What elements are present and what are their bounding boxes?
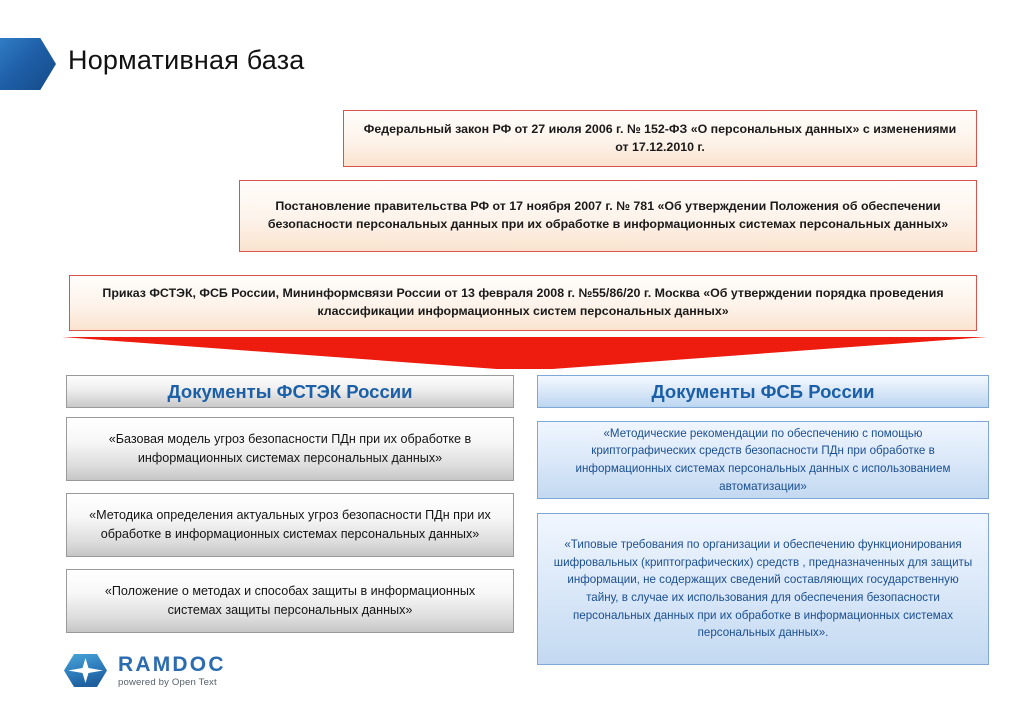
document-card-text: «Типовые требования по организации и обе… — [552, 536, 974, 642]
logo-text-block: RAMDOC powered by Open Text — [118, 654, 226, 688]
ramdoc-hexagon-star-icon — [62, 652, 109, 689]
column-header-fsb-label: Документы ФСБ России — [651, 381, 874, 403]
document-card-fsb: «Методические рекомендации по обеспечени… — [537, 421, 989, 499]
document-card-fstec: «Базовая модель угроз безопасности ПДн п… — [66, 417, 514, 481]
column-header-fstec: Документы ФСТЭК России — [66, 375, 514, 408]
page-title: Нормативная база — [68, 45, 305, 76]
law-box-government-decree: Постановление правительства РФ от 17 ноя… — [239, 180, 977, 252]
document-card-text: «Методика определения актуальных угроз б… — [79, 506, 501, 544]
slide-canvas: Нормативная база Федеральный закон РФ от… — [0, 0, 1023, 708]
law-box-federal-law: Федеральный закон РФ от 27 июля 2006 г. … — [343, 110, 977, 167]
logo-tagline: powered by Open Text — [118, 678, 226, 688]
document-card-fsb: «Типовые требования по организации и обе… — [537, 513, 989, 665]
document-card-text: «Методические рекомендации по обеспечени… — [552, 425, 974, 495]
column-header-fsb: Документы ФСБ России — [537, 375, 989, 408]
logo-wordmark: RAMDOC — [118, 654, 226, 675]
document-card-fstec: «Положение о методах и способах защиты в… — [66, 569, 514, 633]
law-box-joint-order: Приказ ФСТЭК, ФСБ России, Мининформсвязи… — [69, 275, 977, 331]
law-box-text: Приказ ФСТЭК, ФСБ России, Мининформсвязи… — [82, 285, 964, 321]
red-down-arrow-icon — [62, 337, 987, 369]
document-card-text: «Положение о методах и способах защиты в… — [79, 582, 501, 620]
logo: RAMDOC powered by Open Text — [62, 652, 226, 689]
title-arrow-icon — [0, 38, 56, 90]
law-box-text: Постановление правительства РФ от 17 ноя… — [252, 198, 964, 234]
law-box-text: Федеральный закон РФ от 27 июля 2006 г. … — [356, 121, 964, 157]
document-card-fstec: «Методика определения актуальных угроз б… — [66, 493, 514, 557]
document-card-text: «Базовая модель угроз безопасности ПДн п… — [79, 430, 501, 468]
column-header-fstec-label: Документы ФСТЭК России — [168, 381, 413, 403]
